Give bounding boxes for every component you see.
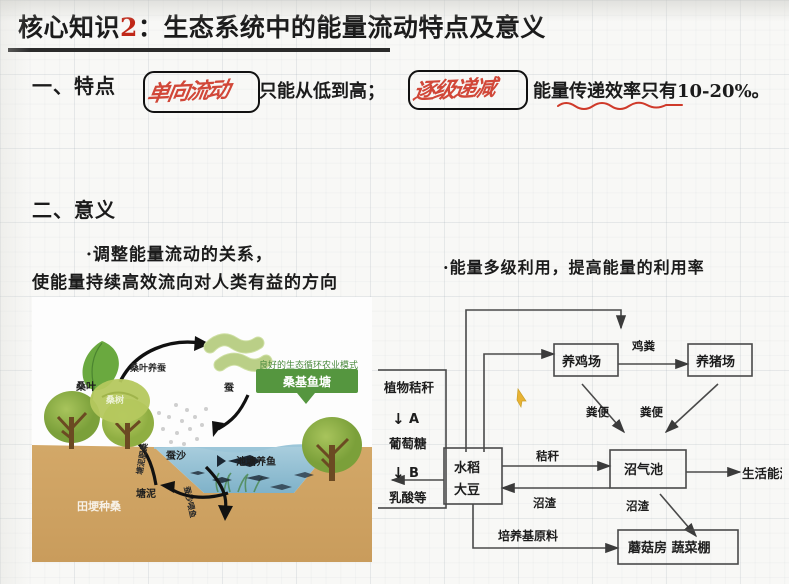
- label-mulberry-tree: 桑树: [105, 394, 124, 406]
- flow-edge-chicken-manure: 鸡粪: [631, 339, 655, 353]
- banner-mulberry-fish-pond: 桑基鱼塘: [256, 369, 358, 393]
- illustration-canvas: 桑叶 桑叶养蚕 蚕 蚕沙 蚕沙喂鱼 池塘养鱼: [32, 297, 372, 562]
- mulberry-fish-pond-illustration: 桑叶 桑叶养蚕 蚕 蚕沙 蚕沙喂鱼 池塘养鱼: [32, 297, 372, 562]
- handwritten-annotation-one-way-flow: 单向流动: [145, 72, 231, 108]
- flow-edge-manure-right: 粪便: [640, 405, 663, 419]
- flow-edge-manure-left: 粪便: [586, 405, 609, 419]
- flow-box-plant-straw: 植物秸秆: [383, 380, 435, 395]
- page-title: 核心知识2：生态系统中的能量流动特点及意义: [18, 8, 718, 44]
- flow-box-mushroom-greenhouse: 蘑菇房 蔬菜棚: [628, 540, 711, 556]
- flow-box-biogas-pit: 沼气池: [624, 462, 663, 478]
- section-1-heading: 一、特点: [32, 70, 116, 99]
- banner-pointer: [297, 393, 315, 404]
- cursor-pointer-icon: [516, 388, 528, 408]
- section-1-text-low-to-high: 只能从低到高；: [259, 77, 385, 103]
- flow-label-step-b: B: [409, 466, 419, 481]
- flow-box-chicken-farm: 养鸡场: [561, 354, 601, 370]
- flow-box-glucose: 葡萄糖: [388, 436, 427, 451]
- section-2-point-right: ·能量多级利用，提高能量的利用率: [443, 254, 705, 278]
- flow-diagram-canvas: 植物秸秆 ↓ A 葡萄糖 ↓ B 乳酸等 水稻 大豆 养鸡场 养猪场 沼气池 蘑…: [378, 292, 782, 570]
- label-pond-fish: 池塘养鱼: [236, 455, 276, 468]
- label-silkworm-dung: 蚕沙: [165, 450, 186, 462]
- flow-box-rice: 水稻: [454, 460, 480, 476]
- section-2-point-left-line2: 使能量持续高效流向对人类有益的方向: [32, 268, 338, 293]
- handwritten-annotation-step-decrease: 逐级递减: [411, 70, 497, 106]
- label-mulberry-leaf: 桑叶: [75, 380, 96, 393]
- flow-box-pig-farm: 养猪场: [695, 354, 735, 370]
- flow-edge-culture-medium: 培养基原料: [498, 528, 558, 543]
- section-2-heading: 二、意义: [32, 194, 116, 223]
- flow-edge-straw: 秸秆: [536, 449, 559, 463]
- page-title-rest: ：生态系统中的能量流动特点及意义: [138, 13, 546, 42]
- flow-edge-living-energy: 生活能源: [742, 466, 782, 481]
- svg-text:↓: ↓: [392, 410, 405, 428]
- flow-edge-residue-down: 沼渣: [626, 499, 649, 513]
- label-silkworm: 蚕: [223, 382, 235, 394]
- eco-agriculture-flow-diagram: 植物秸秆 ↓ A 葡萄糖 ↓ B 乳酸等 水稻 大豆 养鸡场 养猪场 沼气池 蘑…: [378, 292, 782, 570]
- banner-title: 桑基鱼塘: [256, 373, 358, 390]
- flow-box-soybean: 大豆: [454, 482, 480, 498]
- label-pond-mud: 塘泥: [136, 487, 156, 500]
- flow-box-lactic-acid: 乳酸等: [389, 490, 427, 505]
- page-title-prefix: 核心知识: [18, 13, 120, 42]
- page-title-number: 2: [120, 13, 138, 42]
- red-squiggle-underline: [556, 99, 686, 111]
- label-leaf-to-silkworm: 桑叶养蚕: [129, 362, 167, 374]
- label-ridge-planting: 田埂种桑: [77, 499, 122, 513]
- title-underline-rule: [8, 48, 390, 52]
- svg-text:↓: ↓: [392, 464, 405, 482]
- section-2-point-left-line1: ·调整能量流动的关系，: [86, 240, 273, 265]
- flow-label-step-a: A: [409, 412, 419, 427]
- flow-edge-residue-left: 沼渣: [533, 496, 556, 510]
